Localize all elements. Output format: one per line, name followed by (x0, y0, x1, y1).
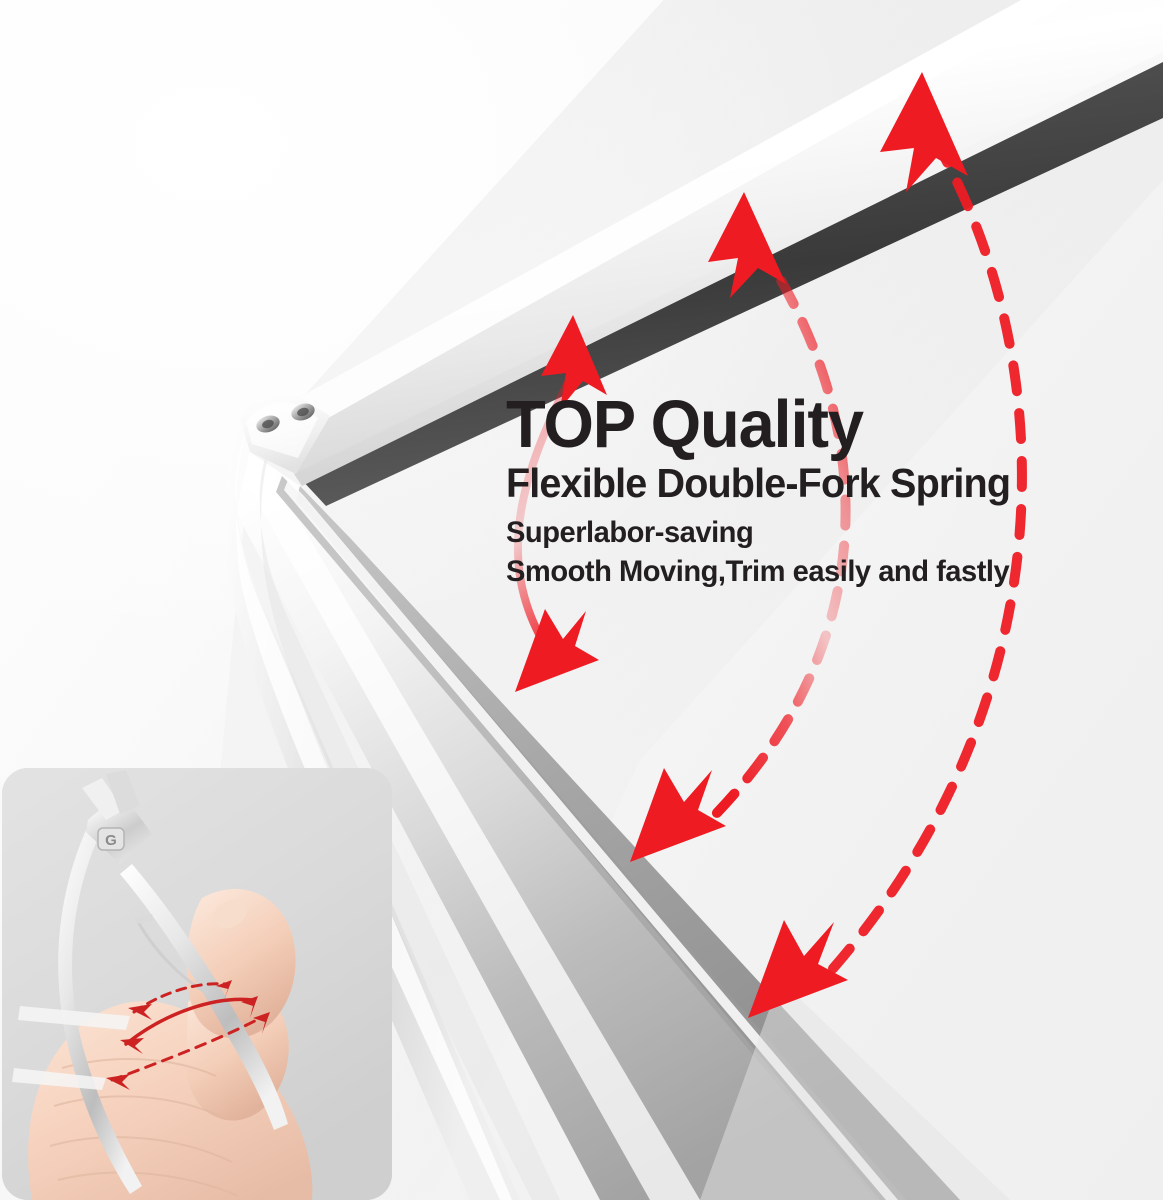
middle-arc-head-down (630, 768, 726, 862)
benefit-line-1: Superlabor-saving (506, 513, 1088, 552)
middle-arc-head-up (708, 192, 786, 298)
page-title: TOP Quality (506, 392, 1088, 458)
page-subtitle: Flexible Double-Fork Spring (506, 462, 1085, 505)
benefit-line-2: Smooth Moving,Trim easily and fastly (506, 552, 1088, 591)
inner-arc-head-down (515, 609, 599, 692)
product-image-canvas: TOP Quality Flexible Double-Fork Spring … (0, 0, 1163, 1200)
hand-holding-nipper-inset: G (2, 768, 392, 1200)
outer-arc-head-up (880, 72, 968, 192)
brand-mark-g: G (105, 832, 117, 849)
marketing-copy-block: TOP Quality Flexible Double-Fork Spring … (506, 392, 1106, 591)
